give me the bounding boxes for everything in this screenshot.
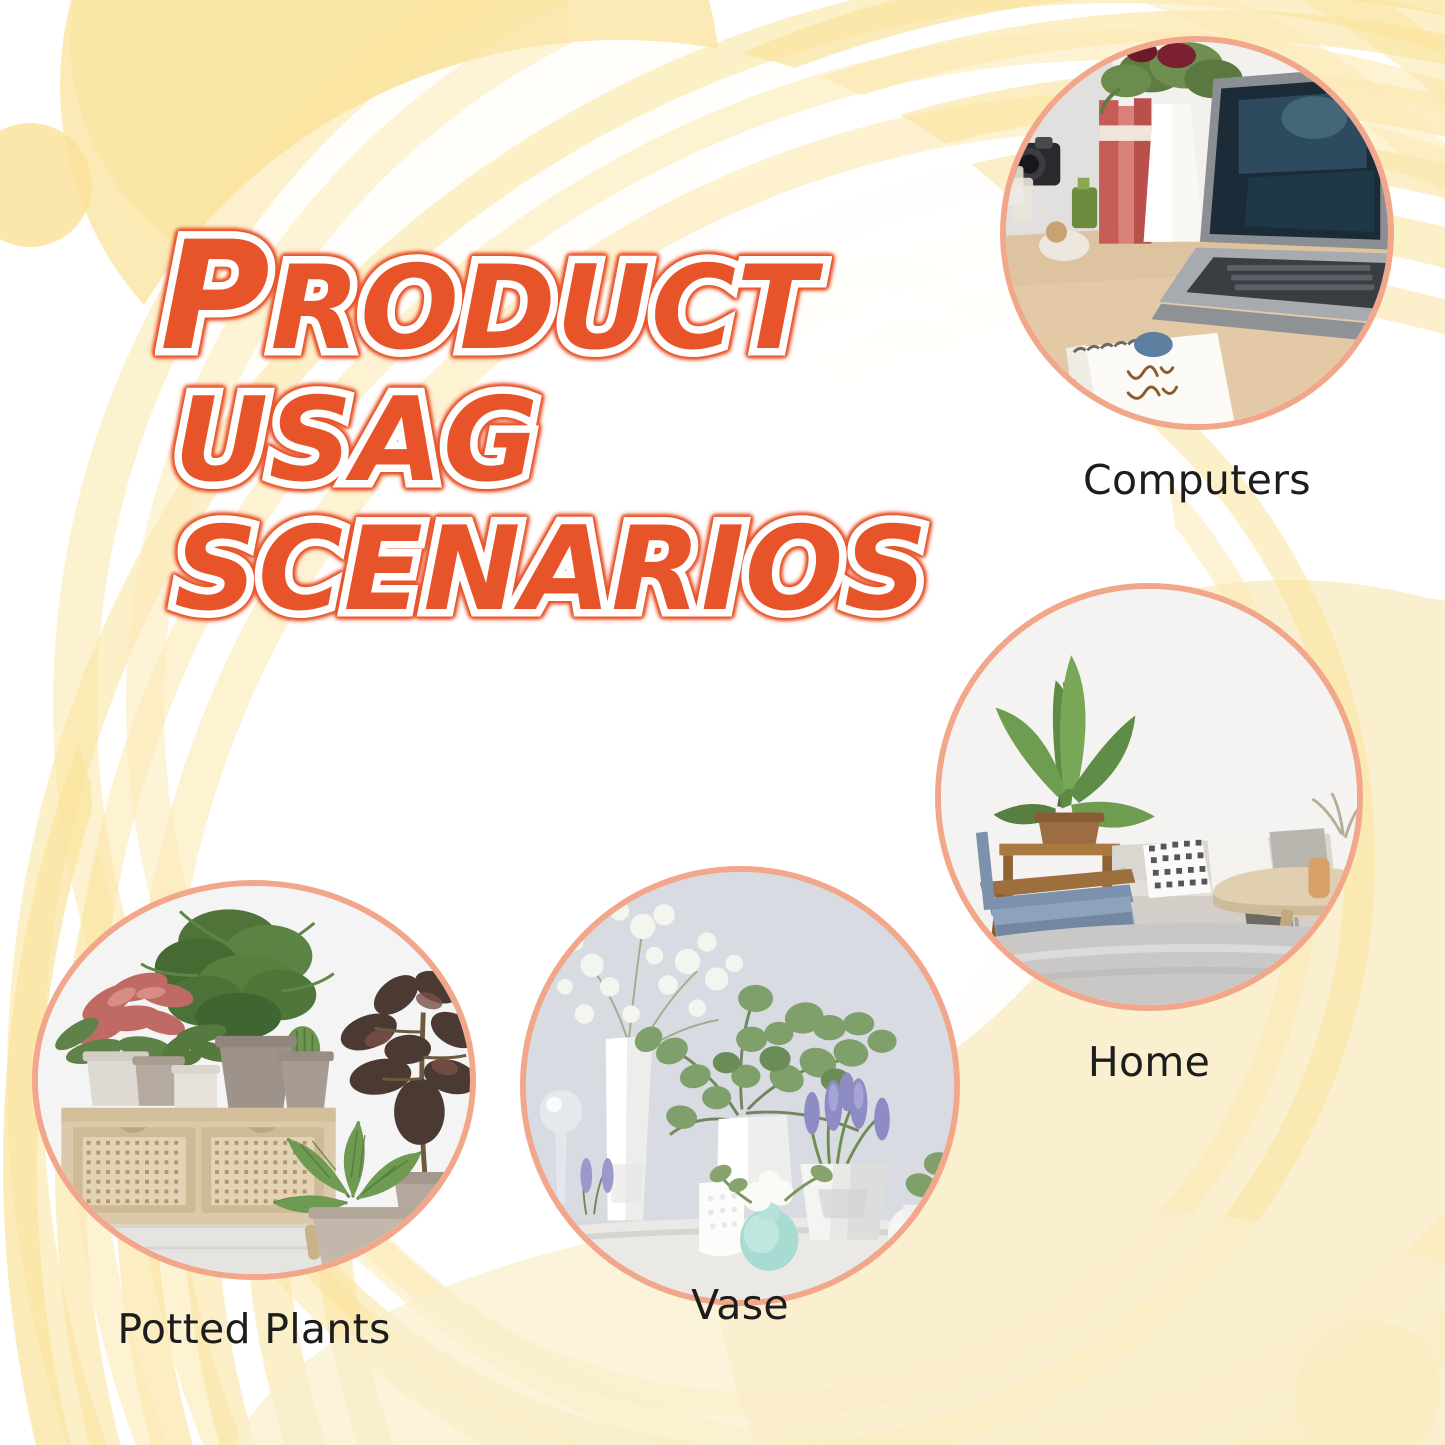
scenario-computers-photo — [1000, 36, 1394, 430]
page-title: PRODUCT USAG SCENARIOS — [160, 228, 920, 623]
scenario-vase-photo — [520, 866, 960, 1306]
living-room-illustration — [941, 589, 1357, 1005]
title-line-1: PRODUCT — [160, 228, 920, 366]
scenario-vase-label: Vase — [520, 1281, 960, 1329]
scenario-home[interactable]: Home — [935, 583, 1363, 1011]
scenario-home-photo — [935, 583, 1363, 1011]
scenario-vase[interactable]: Vase — [520, 866, 960, 1306]
title-line-1-capital: P — [160, 210, 270, 384]
infographic-canvas: PRODUCT USAG SCENARIOS — [0, 0, 1445, 1445]
scenario-computers-label: Computers — [1000, 456, 1394, 504]
decor-yellow-dot-bottom-right — [1296, 1320, 1440, 1445]
scenario-home-label: Home — [935, 1038, 1363, 1086]
title-line-3: SCENARIOS — [174, 517, 920, 624]
title-line-1-rest: RODUCT — [270, 241, 816, 376]
houndstooth-cushion — [1143, 838, 1211, 898]
notebook — [1066, 332, 1235, 424]
scenario-potted-plants-photo — [32, 880, 476, 1280]
potted-plants-illustration — [38, 886, 470, 1275]
desk-workspace-illustration — [1006, 42, 1388, 424]
vase-arrangement-illustration — [526, 872, 954, 1300]
rug — [960, 923, 1357, 1005]
scenario-computers[interactable]: Computers — [1000, 36, 1394, 430]
scenario-potted-plants-label: Potted Plants — [32, 1305, 476, 1353]
title-line-2: USAG — [174, 388, 920, 495]
books — [1099, 98, 1151, 243]
scenario-potted-plants[interactable]: Potted Plants — [32, 880, 476, 1280]
decor-yellow-dot-left — [0, 123, 92, 247]
